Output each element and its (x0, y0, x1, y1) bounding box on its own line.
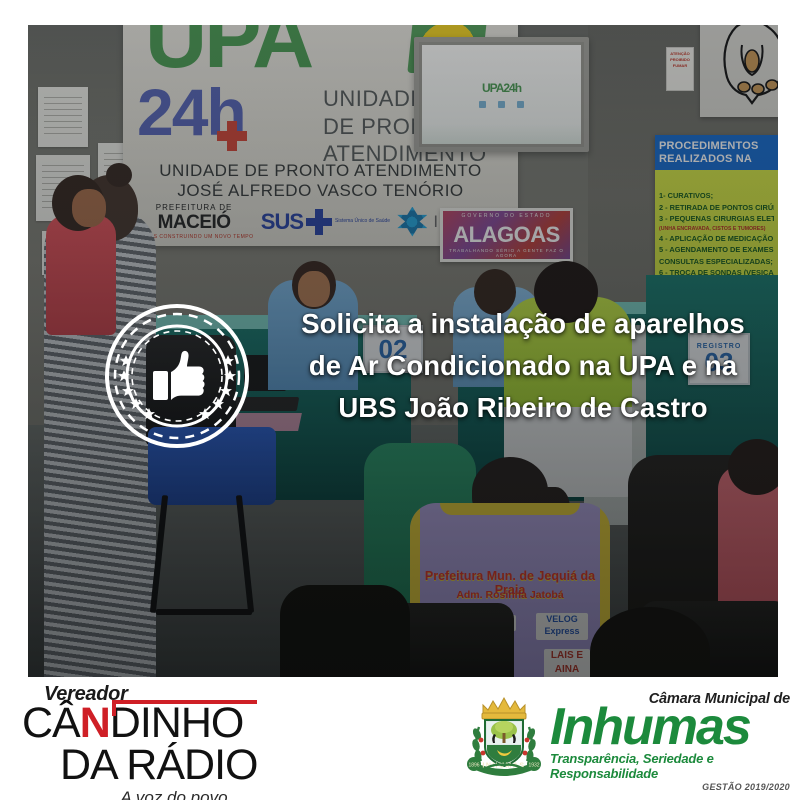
square-icon (479, 101, 486, 108)
thumbs-up-icon (153, 351, 205, 400)
procedures-list-item: 4 - APLICAÇÃO DE MEDICAÇÃO IM; (659, 233, 774, 244)
chair-leg (156, 609, 252, 615)
jersey-sponsor: LAIS E AINA (544, 649, 590, 677)
coat-year-left: 1896 (468, 763, 479, 769)
sus-logo-sub: Sistema Único de Saúde (335, 218, 390, 225)
headline-line-1: Solicita a instalação de aparelhos (258, 303, 778, 345)
inhumas-coat-of-arms-icon: INHUMAS 1896 1932 (461, 687, 547, 787)
procedures-list-item: 3 - PEQUENAS CIRURGIAS ELETIVAS (659, 213, 774, 224)
candinho-name-highlight: N (80, 699, 110, 747)
person-foreground (280, 585, 410, 677)
candinho-red-accent-line (112, 700, 257, 704)
jersey-collar (440, 503, 580, 515)
photo-container: UPA 24h UNIDADE DE PRONTO ATENDIMENTO UN… (28, 25, 778, 677)
alagoas-banner-word: ALAGOAS (453, 222, 560, 248)
square-icon (498, 101, 505, 108)
procedures-list-item-note: (UNHA ENCRAVADA, CISTOS E TUMORES) (659, 225, 774, 233)
candinho-name-part1: CÂ (22, 699, 80, 747)
candinho-name-part2: DINHO (110, 699, 244, 747)
upa-logo-text: UPA (145, 25, 311, 81)
inhumas-gestao-text: GESTÃO 2019/2020 (550, 782, 790, 792)
alagoas-banner-top: GOVERNO DO ESTADO (443, 213, 570, 219)
square-icon (517, 101, 524, 108)
upa-unit-name-line2: JOSÉ ALFREDO VASCO TENÓRIO (123, 181, 518, 201)
hair-bun (106, 163, 132, 187)
isac-star-icon (397, 207, 427, 237)
candinho-brand-logo: Vereador CÂNDINHO DA RÁDIO A voz do povo (22, 683, 292, 800)
jersey-text-line2: Adm. Rosinha Jatobá (410, 589, 610, 601)
alagoas-banner-bottom: TRABALHANDO SÉRIO A GENTE FAZ O AGORA (443, 248, 570, 258)
procedures-list-item: 5 - AGENDAMENTO DE EXAMES E (659, 244, 774, 255)
sus-logo: SUS Sistema Único de Saúde (261, 209, 390, 235)
warning-sign-text: ATENÇÃO PROIBIDO FUMAR (667, 51, 693, 69)
warning-sign: ATENÇÃO PROIBIDO FUMAR (666, 47, 694, 91)
social-media-post: UPA 24h UNIDADE DE PRONTO ATENDIMENTO UN… (0, 0, 800, 800)
procedures-list-item: 2 - RETIRADA DE PONTOS CIRÚRGICOS; (659, 202, 774, 213)
candinho-name-line2: DA RÁDIO (60, 744, 292, 787)
jersey-sponsor: VELOG Express (536, 613, 588, 640)
headline-line-3: UBS João Ribeiro de Castro (258, 387, 778, 429)
headline-line-2: de Ar Condicionado na UPA e na (258, 345, 778, 387)
footer-bar: Vereador CÂNDINHO DA RÁDIO A voz do povo (0, 677, 800, 800)
tv-icon-row (479, 101, 524, 108)
procedures-header-line2: REALIZADOS NA (659, 153, 774, 166)
maceio-logo-main: MACEIÓ (135, 212, 254, 234)
wall-paper (38, 87, 88, 147)
sus-logo-text: SUS (261, 209, 303, 235)
candinho-name-line1: CÂNDINHO (22, 703, 292, 744)
person-face (72, 189, 106, 227)
procedures-header-line1: PROCEDIMENTOS (659, 140, 774, 153)
person-face (298, 271, 330, 307)
thumbs-up-seal-badge (103, 302, 251, 450)
tv-logo-text: UPA24h (482, 81, 521, 95)
inhumas-text-block: Câmara Municipal de Inhumas Transparênci… (550, 691, 790, 792)
inhumas-brand-logo: INHUMAS 1896 1932 (455, 685, 790, 793)
maceio-logo-top: PREFEITURA DE (135, 203, 254, 212)
alagoas-government-banner: GOVERNO DO ESTADO ALAGOAS TRABALHANDO SÉ… (440, 208, 573, 262)
inhumas-slogan: Transparência, Seriedade e Responsabilid… (550, 751, 790, 781)
person-head (728, 439, 778, 495)
coat-year-right: 1932 (528, 763, 539, 769)
wall-mounted-tv: UPA24h (414, 37, 589, 152)
dog-illustration-icon (706, 25, 778, 110)
seal-graphic (103, 302, 251, 450)
procedures-list-item: 1- CURATIVOS; (659, 190, 774, 201)
sus-cross-icon (306, 209, 332, 235)
dog-drawing-sign (700, 25, 778, 117)
procedures-poster-header: PROCEDIMENTOS REALIZADOS NA (655, 135, 778, 170)
upa-unit-name-line1: UNIDADE DE PRONTO ATENDIMENTO (123, 161, 518, 181)
medical-cross-icon (217, 121, 247, 151)
inhumas-main-text: Inhumas (550, 705, 790, 750)
candinho-tagline: A voz do povo (56, 788, 292, 800)
tv-screen: UPA24h (422, 45, 581, 144)
post-headline: Solicita a instalação de aparelhos de Ar… (258, 303, 778, 428)
procedures-list-item: CONSULTAS ESPECIALIZADAS; (659, 256, 774, 267)
